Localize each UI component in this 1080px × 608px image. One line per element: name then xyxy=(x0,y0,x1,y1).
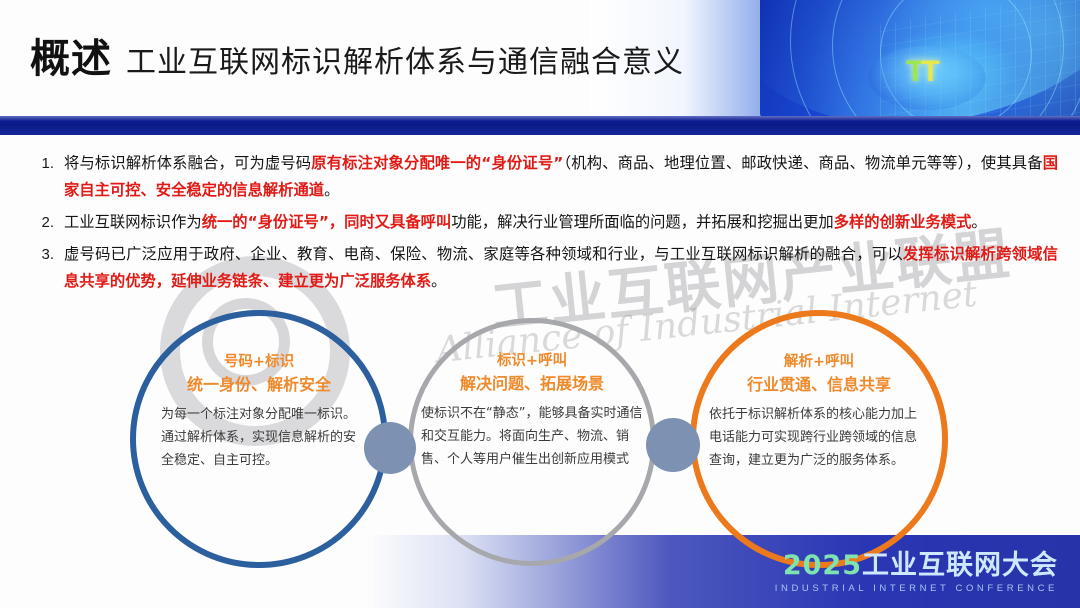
bullet-number: 2. xyxy=(24,209,64,236)
connector-node-left xyxy=(364,422,416,474)
bullet-text-run: 。 xyxy=(324,181,339,199)
conference-logo-title: 2025工业互联网大会 xyxy=(775,551,1058,581)
bullet-text-highlight: 原有标注对象分配唯一的“身份证号” xyxy=(311,154,563,172)
bullet-text: 工业互联网标识作为统一的“身份证号”，同时又具备呼叫功能，解决行业管理所面临的问… xyxy=(64,209,1058,236)
conference-name-cn: 工业互联网大会 xyxy=(862,550,1058,581)
slide-root: TT 概述 工业互联网标识解析体系与通信融合意义 工业互联网产业联盟 Allia… xyxy=(0,0,1080,608)
bullet-number: 3. xyxy=(24,241,64,295)
circle-body-text: 为每一个标注对象分配唯一标识。通过解析体系，实现信息解析的安全稳定、自主可控。 xyxy=(161,403,357,472)
header-divider-bar xyxy=(0,116,1080,135)
bullet-text-highlight: 多样的创新业务模式 xyxy=(834,213,972,231)
bullet-text: 虚号码已广泛应用于政府、企业、教育、电商、保险、物流、家庭等各种领域和行业，与工… xyxy=(64,241,1058,295)
bullet-text-run: 功能，解决行业管理所面临的问题，并拓展和挖掘出更加 xyxy=(451,213,833,231)
conference-name-en: INDUSTRIAL INTERNET CONFERENCE xyxy=(775,583,1058,594)
bullet-list: 1.将与标识解析体系融合，可为虚号码原有标注对象分配唯一的“身份证号”（机构、商… xyxy=(24,150,1058,300)
bullet-text-run: （机构、商品、地理位置、邮政快递、商品、物流单元等等），使其具备 xyxy=(563,154,1042,172)
conference-year: 2025 xyxy=(783,550,862,581)
bullet-text-run: 虚号码已广泛应用于政府、企业、教育、电商、保险、物流、家庭等各种领域和行业，与工… xyxy=(64,245,903,263)
circle-body-text: 使标识不在“静态”，能够具备实时通信和交互能力。将面向生产、物流、销售、个人等用… xyxy=(421,402,643,471)
circle-heading-primary: 解析+呼叫 xyxy=(784,352,854,373)
bullet-item: 1.将与标识解析体系融合，可为虚号码原有标注对象分配唯一的“身份证号”（机构、商… xyxy=(24,150,1058,204)
circle-resolution-call[interactable]: 解析+呼叫 行业贯通、信息共享 依托于标识解析体系的核心能力加上电话能力可实现跨… xyxy=(690,310,948,568)
circle-heading-primary: 号码+标识 xyxy=(224,352,294,373)
page-title: 概述 工业互联网标识解析体系与通信融合意义 xyxy=(30,26,684,84)
bullet-number: 1. xyxy=(24,150,64,204)
circle-content: 号码+标识 统一身份、解析安全 为每一个标注对象分配唯一标识。通过解析体系，实现… xyxy=(136,316,382,562)
circle-body-text: 依托于标识解析体系的核心能力加上电话能力可实现跨行业跨领域的信息查询，建立更为广… xyxy=(709,403,929,472)
page-title-sub: 工业互联网标识解析体系与通信融合意义 xyxy=(126,37,684,81)
bullet-text-run: 。 xyxy=(971,213,986,231)
circle-content: 标识+呼叫 解决问题、拓展场景 使标识不在“静态”，能够具备实时通信和交互能力。… xyxy=(413,323,651,561)
circle-number-identifier[interactable]: 号码+标识 统一身份、解析安全 为每一个标注对象分配唯一标识。通过解析体系，实现… xyxy=(130,310,388,568)
conference-logo: 2025工业互联网大会 INDUSTRIAL INTERNET CONFEREN… xyxy=(775,551,1058,594)
bullet-text-highlight: 统一的“身份证号”，同时又具备呼叫 xyxy=(202,213,452,231)
circle-heading-secondary: 行业贯通、信息共享 xyxy=(747,373,891,397)
connector-node-right xyxy=(646,418,700,472)
header-tech-graphic: TT xyxy=(760,0,1080,128)
circle-identifier-call[interactable]: 标识+呼叫 解决问题、拓展场景 使标识不在“静态”，能够具备实时通信和交互能力。… xyxy=(408,318,656,566)
circle-content: 解析+呼叫 行业贯通、信息共享 依托于标识解析体系的核心能力加上电话能力可实现跨… xyxy=(696,316,942,562)
page-title-main: 概述 xyxy=(30,26,112,84)
circle-heading-secondary: 解决问题、拓展场景 xyxy=(460,372,604,396)
header-divider-sheen xyxy=(0,116,1080,121)
circle-heading-secondary: 统一身份、解析安全 xyxy=(187,373,331,397)
brand-t-logo-icon: TT xyxy=(906,55,937,89)
bullet-text-run: 将与标识解析体系融合，可为虚号码 xyxy=(64,154,311,172)
bullet-text: 将与标识解析体系融合，可为虚号码原有标注对象分配唯一的“身份证号”（机构、商品、… xyxy=(64,150,1058,204)
bullet-item: 2.工业互联网标识作为统一的“身份证号”，同时又具备呼叫功能，解决行业管理所面临… xyxy=(24,209,1058,236)
bullet-text-run: 工业互联网标识作为 xyxy=(64,213,202,231)
bullet-text-run: 。 xyxy=(431,272,446,290)
bullet-item: 3.虚号码已广泛应用于政府、企业、教育、电商、保险、物流、家庭等各种领域和行业，… xyxy=(24,241,1058,295)
circle-heading-primary: 标识+呼叫 xyxy=(497,351,567,372)
brand-t-logo-glyph: T xyxy=(906,55,921,88)
